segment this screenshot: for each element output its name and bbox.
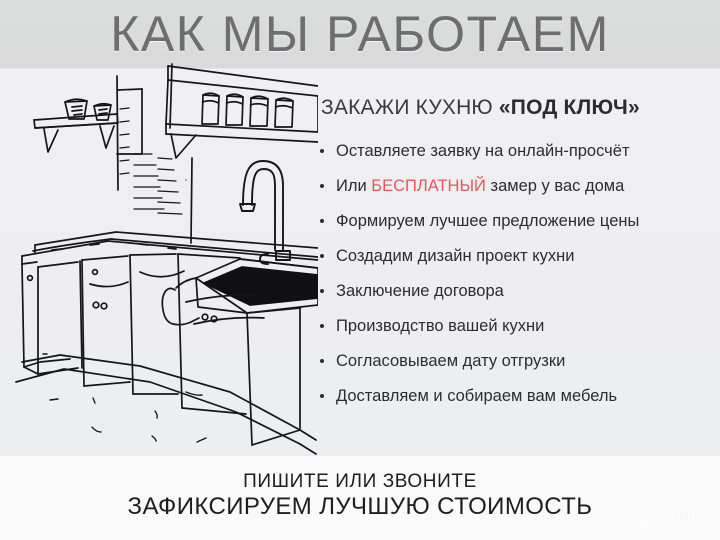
faucet — [240, 161, 290, 264]
footer-line-2: ЗАФИКСИРУЕМ ЛУЧШУЮ СТОИМОСТЬ — [0, 493, 720, 521]
step-text-prefix: Или — [336, 177, 371, 195]
footer-line-1: ПИШИТЕ ИЛИ ЗВОНИТЕ — [0, 470, 720, 493]
countertop — [22, 232, 318, 264]
jars — [202, 93, 293, 127]
step-text-prefix: Согласовываем дату отгрузки — [336, 352, 565, 370]
bullet-dot-icon — [320, 289, 324, 293]
offer-subheading-bold: «ПОД КЛЮЧ» — [499, 96, 640, 119]
list-item: Создадим дизайн проект кухни — [318, 246, 714, 266]
list-item: Производство вашей кухни — [318, 316, 714, 336]
kitchen-line-drawing — [0, 62, 318, 462]
step-text-prefix: Формируем лучшее предложение цены — [336, 212, 639, 230]
step-text-prefix: Доставляем и собираем вам мебель — [336, 387, 617, 405]
step-text-prefix: Создадим дизайн проект кухни — [336, 247, 574, 265]
list-item: Оставляете заявку на онлайн-просчёт — [318, 141, 714, 161]
step-text-suffix: замер у вас дома — [486, 177, 624, 195]
bullet-dot-icon — [320, 324, 324, 328]
bullet-dot-icon — [320, 254, 324, 258]
sink-basin — [162, 259, 318, 325]
step-text-prefix: Заключение договора — [336, 282, 504, 300]
bullet-dot-icon — [320, 149, 324, 153]
list-item: Доставляем и собираем вам мебель — [318, 386, 714, 406]
bullet-dot-icon — [320, 359, 324, 363]
banner-canvas: КАК МЫ РАБОТАЕМ — [0, 0, 720, 540]
avito-dots-icon — [639, 510, 659, 528]
steps-list: Оставляете заявку на онлайн-просчёт Или … — [318, 141, 714, 406]
offer-panel: ЗАКАЖИ КУХНЮ «ПОД КЛЮЧ» Оставляете заявк… — [318, 95, 714, 421]
avito-watermark-label: Avito — [663, 508, 708, 530]
avito-watermark: Avito — [639, 508, 708, 530]
list-item: Заключение договора — [318, 281, 714, 301]
step-text-prefix: Производство вашей кухни — [336, 317, 544, 335]
list-item: Согласовываем дату отгрузки — [318, 351, 714, 371]
page-title: КАК МЫ РАБОТАЕМ — [0, 6, 720, 62]
bullet-dot-icon — [320, 394, 324, 398]
bullet-dot-icon — [320, 184, 324, 188]
list-item: Формируем лучшее предложение цены — [318, 211, 714, 231]
offer-subheading: ЗАКАЖИ КУХНЮ «ПОД КЛЮЧ» — [321, 95, 714, 121]
offer-subheading-plain: ЗАКАЖИ КУХНЮ — [321, 96, 499, 119]
step-text-highlight: БЕСПЛАТНЫЙ — [371, 177, 486, 195]
footer-callout: ПИШИТЕ ИЛИ ЗВОНИТЕ ЗАФИКСИРУЕМ ЛУЧШУЮ СТ… — [0, 470, 720, 521]
bullet-dot-icon — [320, 219, 324, 223]
list-item: Или БЕСПЛАТНЫЙ замер у вас дома — [318, 176, 714, 196]
step-text-prefix: Оставляете заявку на онлайн-просчёт — [336, 142, 630, 160]
